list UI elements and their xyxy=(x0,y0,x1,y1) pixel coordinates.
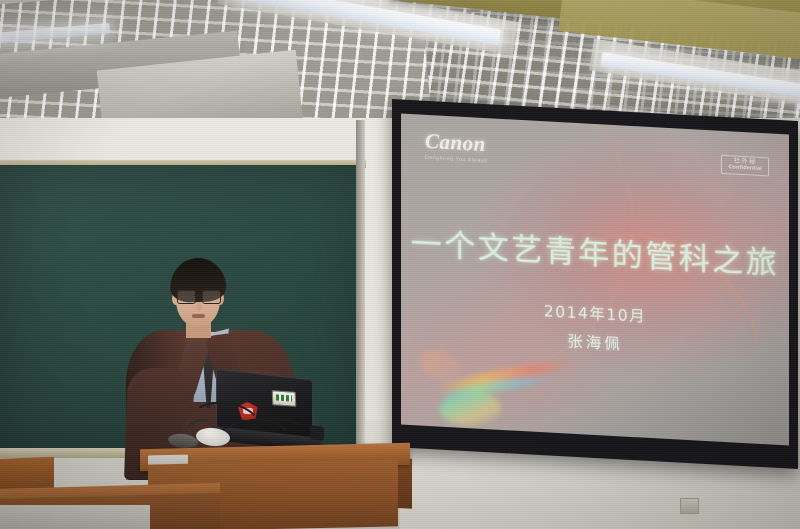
mouth xyxy=(192,314,205,318)
confidential-badge-en: Confidential xyxy=(728,165,762,172)
canon-wordmark: Canon xyxy=(425,131,487,155)
eyeglass-bridge xyxy=(194,295,202,296)
laptop-sticker-green xyxy=(272,390,297,407)
prism-ray-cool xyxy=(437,371,557,400)
canon-logo: Canon Delighting You Always xyxy=(425,131,487,164)
nose xyxy=(196,302,202,311)
eyeglasses-icon xyxy=(176,290,221,302)
eyeglass-lens-right xyxy=(202,290,221,304)
prism-ray-block xyxy=(437,390,502,427)
projection-screen-surface: Canon Delighting You Always 社外秘 Confiden… xyxy=(401,113,789,445)
lecture-hall-photo: Canon Delighting You Always 社外秘 Confiden… xyxy=(0,0,800,529)
floor-strip xyxy=(0,505,150,529)
confidential-badge: 社外秘 Confidential xyxy=(721,155,769,177)
eyeglass-lens-left xyxy=(177,290,196,304)
projection-screen-frame: Canon Delighting You Always 社外秘 Confiden… xyxy=(392,99,798,469)
blackboard-edge xyxy=(356,120,365,460)
laptop-hinge-knob xyxy=(310,425,324,441)
wall-socket xyxy=(680,498,699,514)
